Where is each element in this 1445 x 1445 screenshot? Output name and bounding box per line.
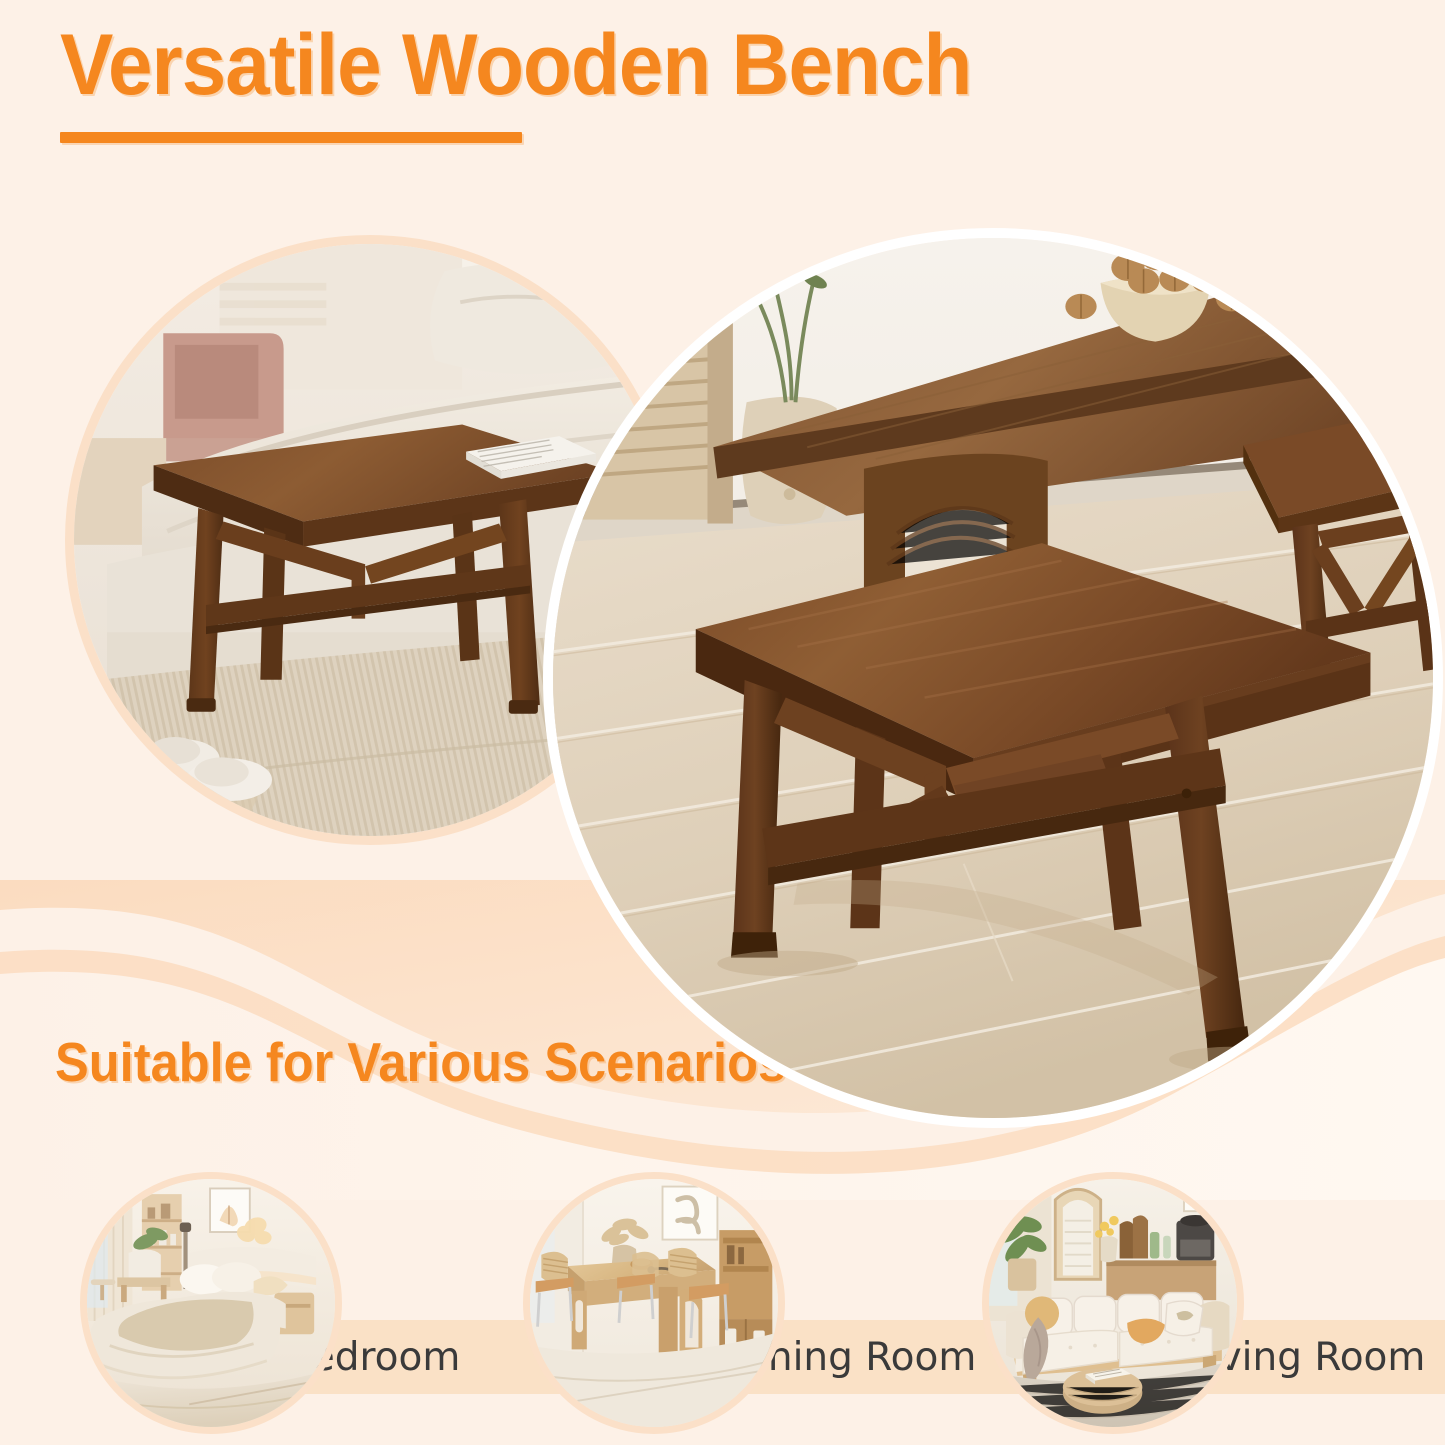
scenario-dining-room: Dining Room — [523, 1172, 785, 1434]
infographic-page: Versatile Wooden Bench — [0, 0, 1445, 1445]
scenario-living-room: Living Room — [982, 1172, 1244, 1434]
living-room-thumbnail — [982, 1172, 1244, 1434]
title-underline — [60, 132, 522, 143]
page-title: Versatile Wooden Bench — [60, 22, 971, 108]
bedroom-thumbnail — [80, 1172, 342, 1434]
dining-room-thumbnail — [523, 1172, 785, 1434]
dining-bench-photo — [553, 238, 1433, 1118]
scenario-bedroom: Bedroom — [80, 1172, 342, 1434]
hero-right-circle — [543, 228, 1443, 1128]
